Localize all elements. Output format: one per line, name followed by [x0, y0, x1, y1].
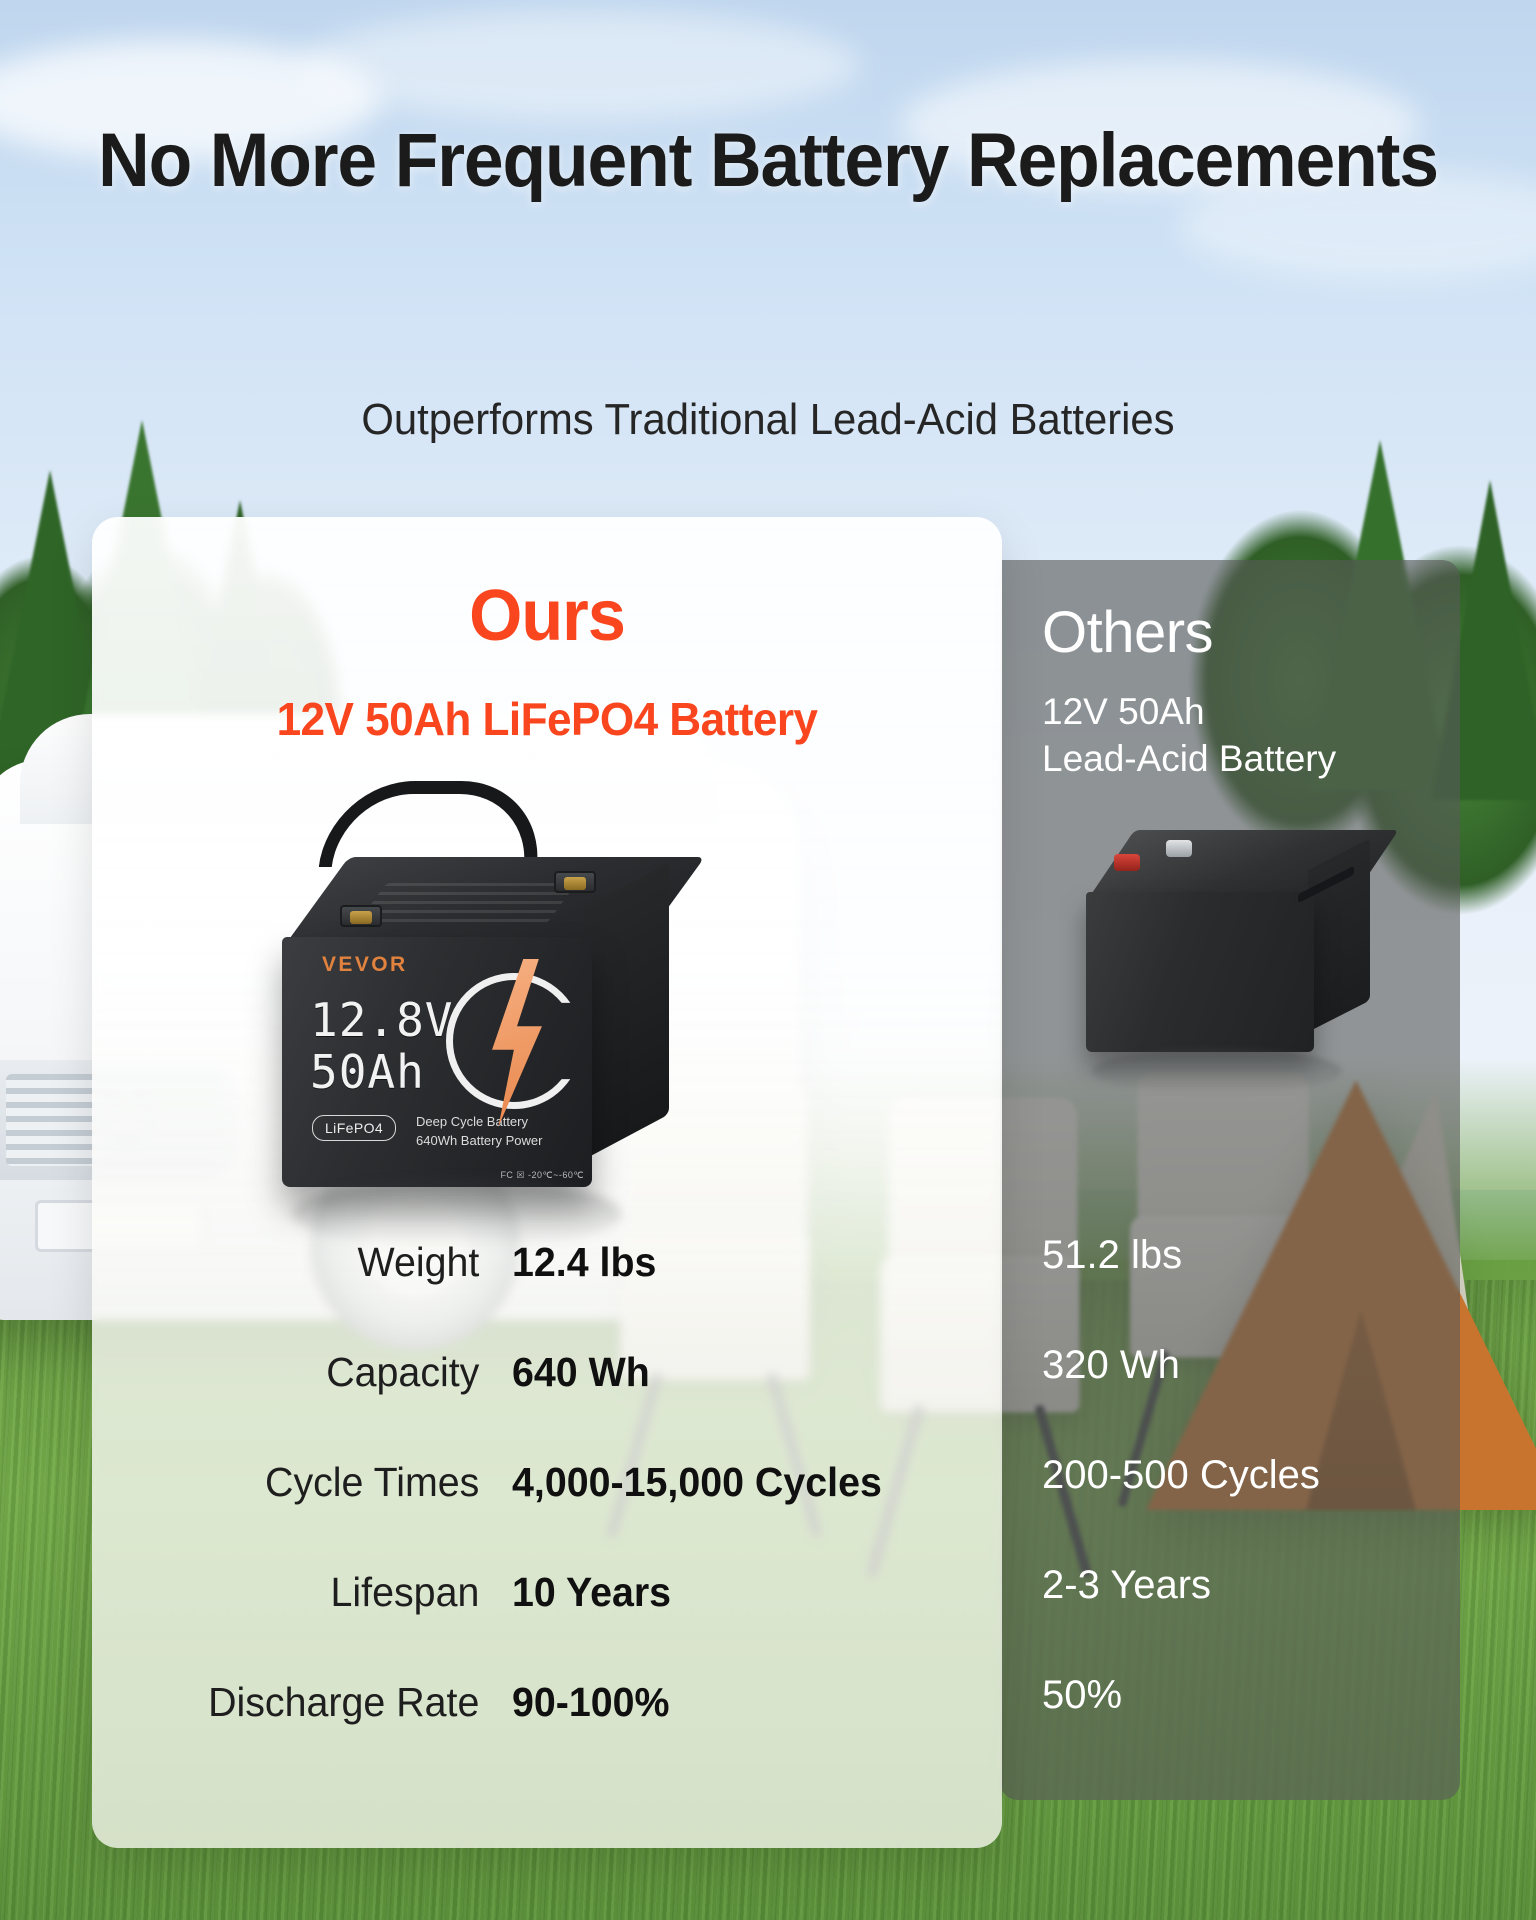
others-value-row: 320 Wh — [1042, 1310, 1442, 1420]
others-value-row: 200-500 Cycles — [1042, 1420, 1442, 1530]
others-values-list: 51.2 lbs 320 Wh 200-500 Cycles 2-3 Years… — [1042, 1200, 1442, 1750]
others-product-name: 12V 50Ah Lead-Acid Battery — [1042, 688, 1460, 783]
battery-description: Deep Cycle Battery 640Wh Battery Power — [416, 1113, 542, 1151]
spec-label: Discharge Rate — [166, 1679, 512, 1726]
lifepo4-battery-image: VEVOR Model: HD1250B 12.8V 50Ah LiFePO4 … — [282, 787, 702, 1187]
spec-value: 12.4 lbs — [512, 1239, 656, 1286]
ours-title: Ours — [115, 575, 980, 657]
others-title: Others — [1042, 604, 1460, 662]
certification-marks: FC ☒ -20℃~-60℃ — [500, 1170, 584, 1181]
terminal-nut — [350, 911, 372, 924]
spec-label: Capacity — [166, 1349, 512, 1396]
chemistry-badge: LiFePO4 — [312, 1115, 396, 1141]
cloud — [300, 10, 860, 120]
spec-value: 10 Years — [512, 1569, 671, 1616]
spec-row: Discharge Rate 90-100% — [92, 1647, 1002, 1757]
negative-terminal-icon — [340, 905, 382, 927]
battery-capacity-label: 50Ah — [310, 1045, 425, 1099]
spec-row: Cycle Times 4,000-15,000 Cycles — [92, 1427, 1002, 1537]
battery-side-face — [1308, 838, 1370, 1032]
spec-row: Weight 12.4 lbs — [92, 1207, 1002, 1317]
ours-product-card: Ours 12V 50Ah LiFePO4 Battery VEVOR Mode… — [92, 517, 1002, 1848]
ours-specs-list: Weight 12.4 lbs Capacity 640 Wh Cycle Ti… — [92, 1207, 1002, 1757]
battery-carry-handle — [319, 781, 548, 867]
ours-product-name: 12V 50Ah LiFePO4 Battery — [110, 692, 984, 746]
positive-terminal-icon — [1114, 854, 1140, 871]
battery-side-face — [585, 862, 669, 1159]
spec-label: Cycle Times — [166, 1459, 512, 1506]
spec-row: Lifespan 10 Years — [92, 1537, 1002, 1647]
negative-terminal-icon — [1166, 840, 1192, 857]
spec-value: 4,000-15,000 Cycles — [512, 1459, 882, 1506]
spec-label: Lifespan — [166, 1569, 512, 1616]
brand-logo: VEVOR — [322, 953, 408, 977]
positive-terminal-icon — [554, 871, 596, 893]
lead-acid-battery-image — [1086, 830, 1386, 1070]
others-comparison-panel: Others 12V 50Ah Lead-Acid Battery 51.2 l… — [1000, 560, 1460, 1800]
battery-top-etching — [357, 883, 576, 923]
spec-value: 90-100% — [512, 1679, 670, 1726]
spec-row: Capacity 640 Wh — [92, 1317, 1002, 1427]
page-subtitle: Outperforms Traditional Lead-Acid Batter… — [38, 395, 1497, 445]
terminal-nut — [564, 877, 586, 890]
others-value-row: 2-3 Years — [1042, 1530, 1442, 1640]
page-title: No More Frequent Battery Replacements — [46, 120, 1490, 202]
battery-front-face — [1086, 892, 1314, 1052]
spec-value: 640 Wh — [512, 1349, 650, 1396]
lightning-bolt-icon — [446, 973, 582, 1109]
battery-reflection — [1092, 1048, 1342, 1094]
others-value-row: 50% — [1042, 1640, 1442, 1750]
others-value-row: 51.2 lbs — [1042, 1200, 1442, 1310]
battery-front-face: VEVOR Model: HD1250B 12.8V 50Ah LiFePO4 … — [282, 937, 592, 1187]
battery-voltage-label: 12.8V — [310, 993, 453, 1047]
spec-label: Weight — [166, 1239, 512, 1286]
